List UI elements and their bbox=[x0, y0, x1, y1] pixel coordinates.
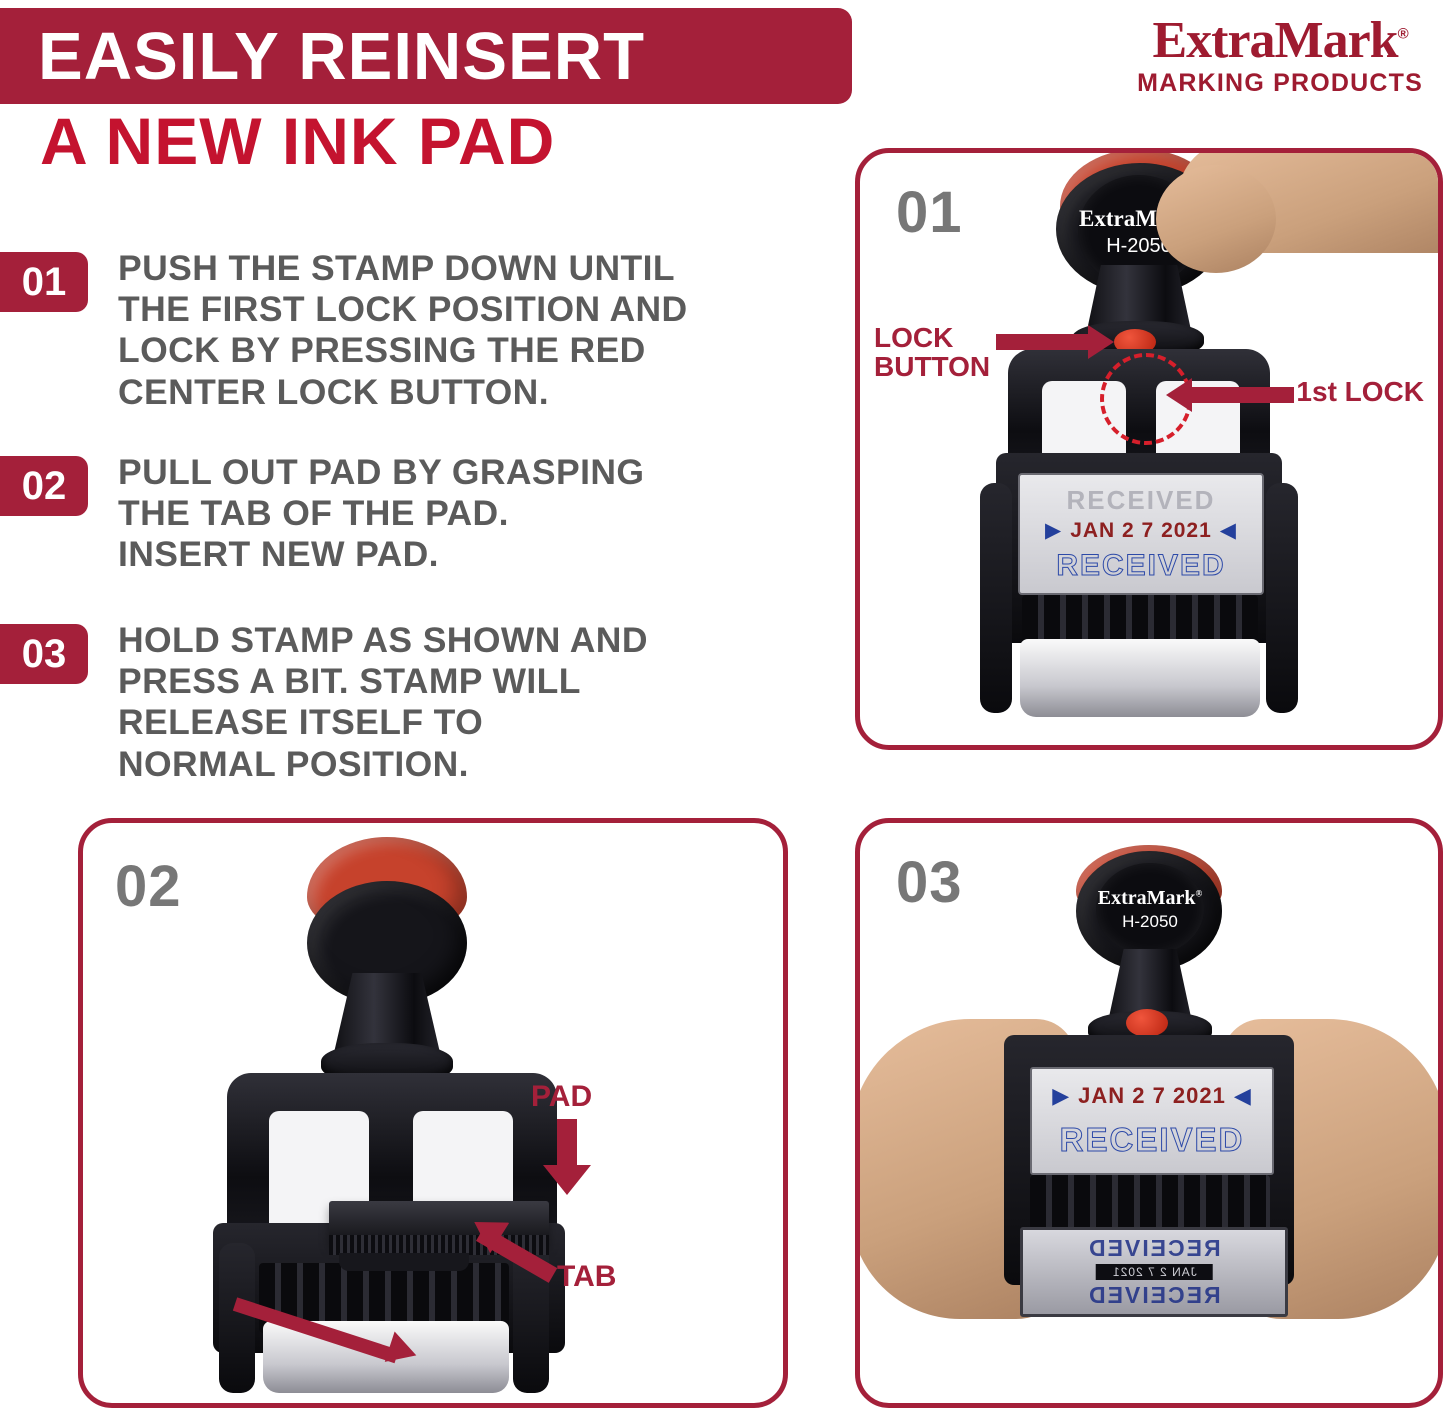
label-word-text: RECEIVED bbox=[1056, 549, 1225, 583]
stamp-base-plate bbox=[1020, 639, 1260, 717]
brand-logo-wordmark: ExtraMark® bbox=[1137, 14, 1423, 67]
photo-panel-01: 01 ExtraMark® H-2050 RECEIVED ▶ bbox=[855, 148, 1443, 750]
step-badge-02: 02 bbox=[0, 456, 88, 516]
annotation-first-lock: 1st LOCK bbox=[1296, 377, 1424, 406]
annotation-pad-arrow bbox=[557, 1119, 577, 1167]
ink-pad-tab bbox=[339, 1253, 469, 1271]
cap-brand-text-03: ExtraMark® bbox=[1098, 888, 1203, 908]
brand-logo-name: ExtraMark bbox=[1152, 12, 1397, 69]
step-badge-03: 03 bbox=[0, 624, 88, 684]
date-wheels-03 bbox=[1030, 1175, 1270, 1233]
step-text-02: PULL OUT PAD BY GRASPING THE TAB OF THE … bbox=[118, 452, 644, 576]
label-date-text-03: JAN 2 7 2021 bbox=[1078, 1083, 1226, 1109]
die-word-top: RECEIVED bbox=[1087, 1235, 1221, 1262]
die-word-bottom: RECEIVED bbox=[1087, 1282, 1221, 1309]
panel-number-03: 03 bbox=[896, 849, 963, 916]
date-arrow-left-icon-03: ▶ bbox=[1052, 1083, 1070, 1109]
photo-panel-02: 02 PAD TAB bbox=[78, 818, 788, 1408]
die-plate: RECEIVED JAN 2 7 2021 RECEIVED bbox=[1020, 1227, 1288, 1317]
label-date-row-03: ▶ JAN 2 7 2021 ◀ bbox=[1052, 1083, 1252, 1109]
die-date-band: JAN 2 7 2021 bbox=[1096, 1264, 1213, 1280]
photo-panel-03: 03 ExtraMark® H-2050 ▶ JAN 2 7 2021 ◀ RE… bbox=[855, 818, 1443, 1408]
stamp-date-label-01: RECEIVED ▶ JAN 2 7 2021 ◀ RECEIVED bbox=[1018, 473, 1264, 595]
lock-button-03 bbox=[1126, 1009, 1168, 1037]
page-title-line1: EASILY REINSERT bbox=[38, 23, 645, 90]
instruction-step-3: 03 HOLD STAMP AS SHOWN AND PRESS A BIT. … bbox=[0, 620, 648, 785]
annotation-pad-arrowhead-icon bbox=[543, 1165, 591, 1195]
date-arrow-right-icon-03: ◀ bbox=[1234, 1083, 1252, 1109]
step-text-03: HOLD STAMP AS SHOWN AND PRESS A BIT. STA… bbox=[118, 620, 648, 785]
label-date-row: ▶ JAN 2 7 2021 ◀ bbox=[1045, 518, 1237, 543]
registered-trademark-icon: ® bbox=[1398, 26, 1408, 43]
cap-registered-icon-03: ® bbox=[1196, 888, 1203, 898]
annotation-first-lock-arrowhead-icon bbox=[1166, 378, 1192, 412]
date-wheels bbox=[1022, 595, 1258, 645]
panel-number-01: 01 bbox=[896, 179, 963, 246]
date-arrow-right-icon: ◀ bbox=[1220, 518, 1237, 543]
step-text-01: PUSH THE STAMP DOWN UNTIL THE FIRST LOCK… bbox=[118, 248, 688, 413]
annotation-pad: PAD bbox=[531, 1081, 592, 1113]
brand-logo-subtitle: MARKING PRODUCTS bbox=[1137, 69, 1423, 98]
panel-number-02: 02 bbox=[115, 853, 182, 920]
stamp-date-label-03: ▶ JAN 2 7 2021 ◀ RECEIVED bbox=[1030, 1067, 1274, 1175]
annotation-lock-button-arrowhead-icon bbox=[1088, 325, 1114, 359]
date-arrow-left-icon: ▶ bbox=[1045, 518, 1062, 543]
stamp-side-left-02 bbox=[219, 1243, 255, 1393]
label-date-text: JAN 2 7 2021 bbox=[1070, 519, 1212, 543]
brand-logo: ExtraMark® MARKING PRODUCTS bbox=[1137, 14, 1423, 98]
annotation-lock-button-arrow bbox=[996, 334, 1090, 350]
stamp-cap-badge-03: ExtraMark® H-2050 bbox=[1096, 863, 1204, 955]
instruction-step-2: 02 PULL OUT PAD BY GRASPING THE TAB OF T… bbox=[0, 452, 644, 576]
stamp-side-left bbox=[980, 483, 1012, 713]
cap-brand-name-03: ExtraMark bbox=[1098, 887, 1196, 909]
label-word-text-03: RECEIVED bbox=[1060, 1121, 1245, 1159]
annotation-lock-button: LOCK BUTTON bbox=[874, 323, 990, 382]
annotation-tab: TAB bbox=[557, 1261, 616, 1293]
page-title-line2: A NEW INK PAD bbox=[40, 108, 555, 174]
title-banner: EASILY REINSERT bbox=[0, 8, 852, 104]
annotation-first-lock-arrow bbox=[1190, 387, 1294, 403]
stamp-side-right bbox=[1266, 483, 1298, 713]
stamp-photo-02: PAD TAB bbox=[83, 823, 783, 1403]
label-ghost-text: RECEIVED bbox=[1067, 485, 1216, 516]
step-badge-01: 01 bbox=[0, 252, 88, 312]
hand-knuckle bbox=[1156, 165, 1276, 273]
cap-model-text-03: H-2050 bbox=[1122, 913, 1178, 930]
instruction-step-1: 01 PUSH THE STAMP DOWN UNTIL THE FIRST L… bbox=[0, 248, 688, 413]
